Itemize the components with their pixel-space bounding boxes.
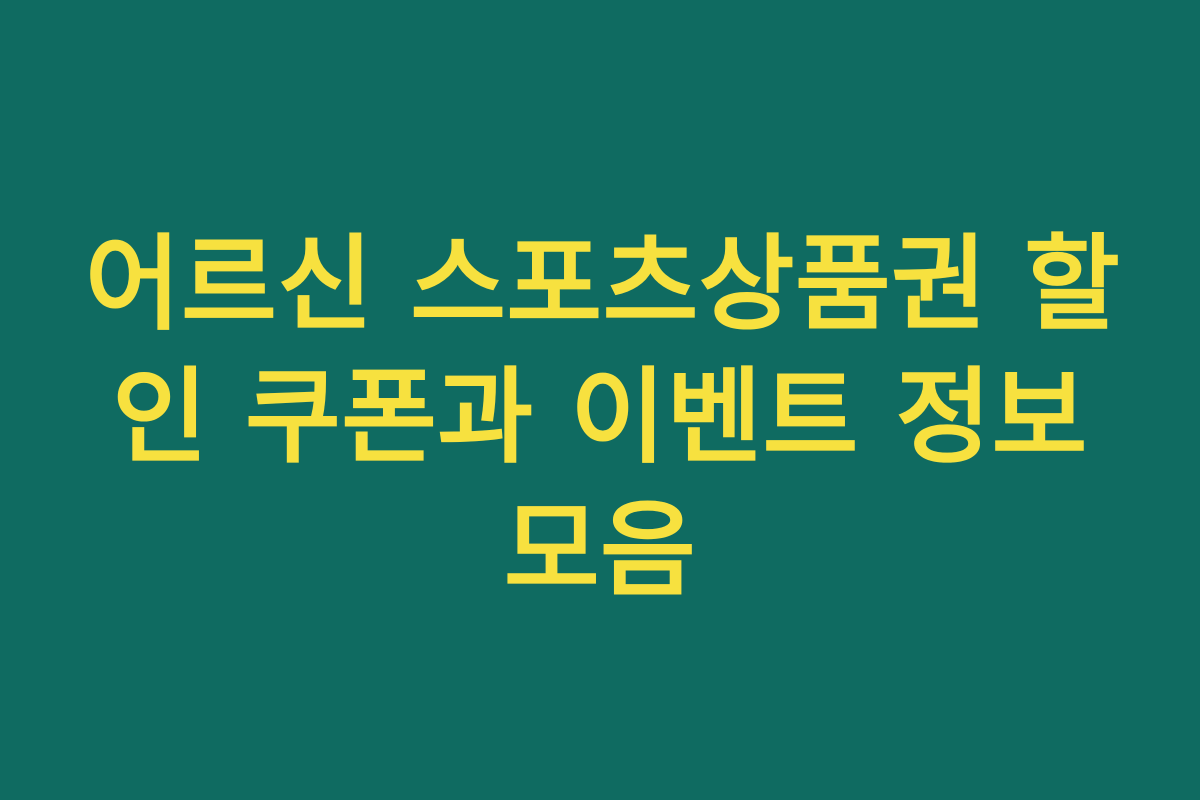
headline-block: 어르신 스포츠상품권 할 인 쿠폰과 이벤트 정보 모음 <box>85 218 1115 617</box>
headline-line-3: 모음 <box>85 484 1115 617</box>
banner-root: 어르신 스포츠상품권 할 인 쿠폰과 이벤트 정보 모음 <box>0 0 1200 800</box>
headline-line-2: 인 쿠폰과 이벤트 정보 <box>85 351 1115 484</box>
headline-line-1: 어르신 스포츠상품권 할 <box>85 218 1115 351</box>
